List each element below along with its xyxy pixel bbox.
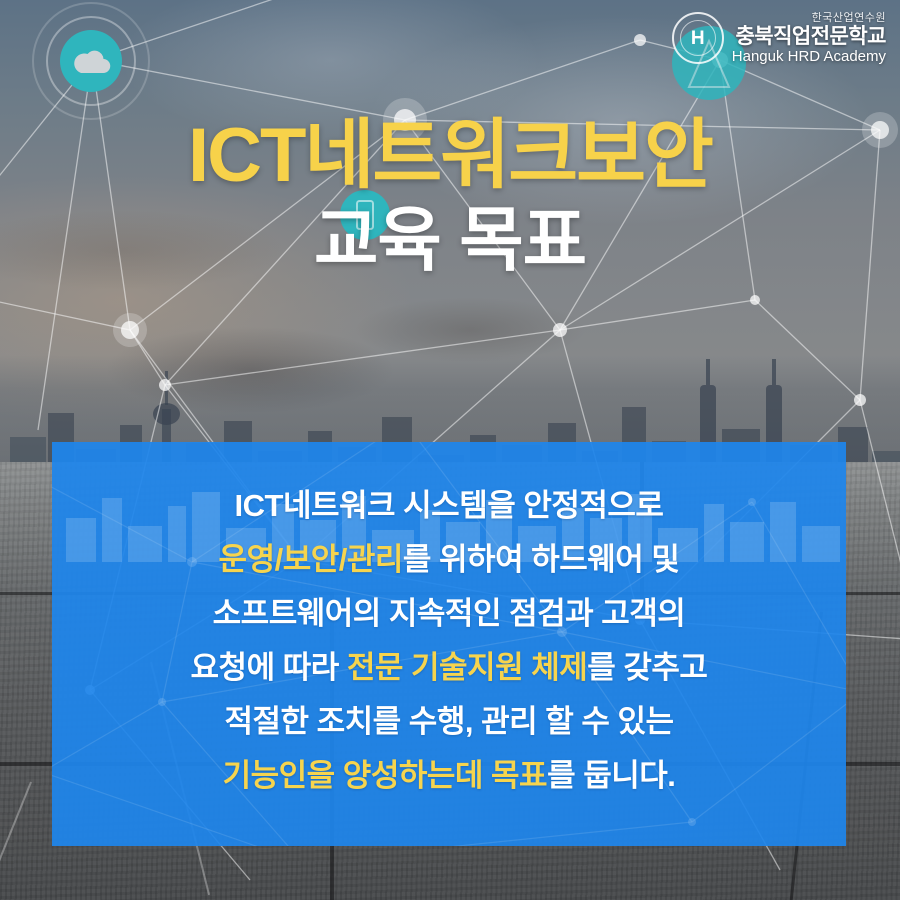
objective-plain-text: ICT네트워크 시스템을 안정적으로 xyxy=(235,488,664,523)
objective-plain-text: 를 둡니다. xyxy=(547,758,675,793)
logo-main-text: 충북직업전문학교 xyxy=(735,26,886,47)
objective-text-block: ICT네트워크 시스템을 안정적으로운영/보안/관리를 위하여 하드웨어 및소프… xyxy=(52,442,846,791)
objective-plain-text: 를 위하여 하드웨어 및 xyxy=(403,542,680,577)
objective-line: ICT네트워크 시스템을 안정적으로 xyxy=(52,490,846,521)
logo-emblem-letter: H xyxy=(680,20,716,56)
objective-highlight-text: 기능인을 양성하는데 목표 xyxy=(223,758,547,793)
institution-logo[interactable]: H 한국산업연수원 충북직업전문학교 Hanguk HRD Academy xyxy=(672,12,886,64)
page-title: ICT네트워크보안 교육 목표 xyxy=(0,116,900,279)
logo-text-block: 한국산업연수원 충북직업전문학교 Hanguk HRD Academy xyxy=(732,13,886,64)
objective-line: 적절한 조치를 수행, 관리 할 수 있는 xyxy=(52,706,846,737)
objective-line: 기능인을 양성하는데 목표를 둡니다. xyxy=(52,760,846,791)
title-line-primary: ICT네트워크보안 xyxy=(0,116,900,195)
objective-plain-text: 소프트웨어의 지속적인 점검과 고객의 xyxy=(213,596,686,631)
poster-canvas: H 한국산업연수원 충북직업전문학교 Hanguk HRD Academy IC… xyxy=(0,0,900,900)
objective-highlight-text: 전문 기술지원 체제 xyxy=(347,650,587,685)
objective-line: 요청에 따라 전문 기술지원 체제를 갖추고 xyxy=(52,652,846,683)
logo-sub-text: 한국산업연수원 xyxy=(812,13,886,24)
objective-panel: ICT네트워크 시스템을 안정적으로운영/보안/관리를 위하여 하드웨어 및소프… xyxy=(52,442,846,846)
title-line-secondary: 교육 목표 xyxy=(0,201,900,279)
objective-plain-text: 를 갖추고 xyxy=(587,650,707,685)
cloud-icon-glyph xyxy=(71,48,111,74)
logo-emblem-icon: H xyxy=(672,12,724,64)
objective-line: 소프트웨어의 지속적인 점검과 고객의 xyxy=(52,598,846,629)
objective-line: 운영/보안/관리를 위하여 하드웨어 및 xyxy=(52,544,846,575)
objective-plain-text: 요청에 따라 xyxy=(191,650,347,685)
cloud-icon xyxy=(60,30,122,92)
objective-plain-text: 적절한 조치를 수행, 관리 할 수 있는 xyxy=(224,704,673,739)
objective-highlight-text: 운영/보안/관리 xyxy=(219,542,403,577)
logo-english-text: Hanguk HRD Academy xyxy=(732,49,886,64)
